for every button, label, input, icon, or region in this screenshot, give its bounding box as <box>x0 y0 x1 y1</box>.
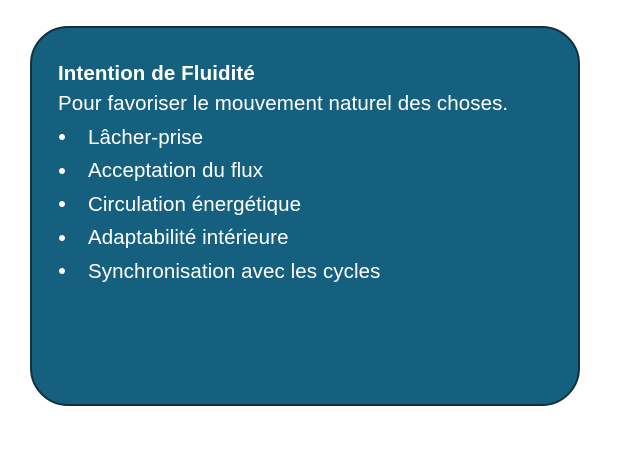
intention-list: Lâcher-prise Acceptation du flux Circula… <box>58 121 548 289</box>
list-item: Circulation énergétique <box>58 188 548 222</box>
bullet-dot-icon <box>59 201 65 207</box>
bullet-dot-icon <box>59 268 65 274</box>
bullet-dot-icon <box>59 168 65 174</box>
card-title: Intention de Fluidité <box>58 60 548 87</box>
list-item-label: Synchronisation avec les cycles <box>88 260 381 283</box>
list-item-label: Acceptation du flux <box>88 159 263 182</box>
list-item: Lâcher-prise <box>58 121 548 155</box>
list-item: Synchronisation avec les cycles <box>58 255 548 289</box>
list-item-label: Circulation énergétique <box>88 193 301 216</box>
bullet-dot-icon <box>59 134 65 140</box>
list-item: Adaptabilité intérieure <box>58 221 548 255</box>
list-item-label: Lâcher-prise <box>88 126 203 149</box>
page-canvas: Intention de Fluidité Pour favoriser le … <box>0 0 632 454</box>
bullet-dot-icon <box>59 235 65 241</box>
card-description: Pour favoriser le mouvement naturel des … <box>58 87 553 120</box>
list-item: Acceptation du flux <box>58 154 548 188</box>
intention-card: Intention de Fluidité Pour favoriser le … <box>30 26 580 406</box>
list-item-label: Adaptabilité intérieure <box>88 226 289 249</box>
